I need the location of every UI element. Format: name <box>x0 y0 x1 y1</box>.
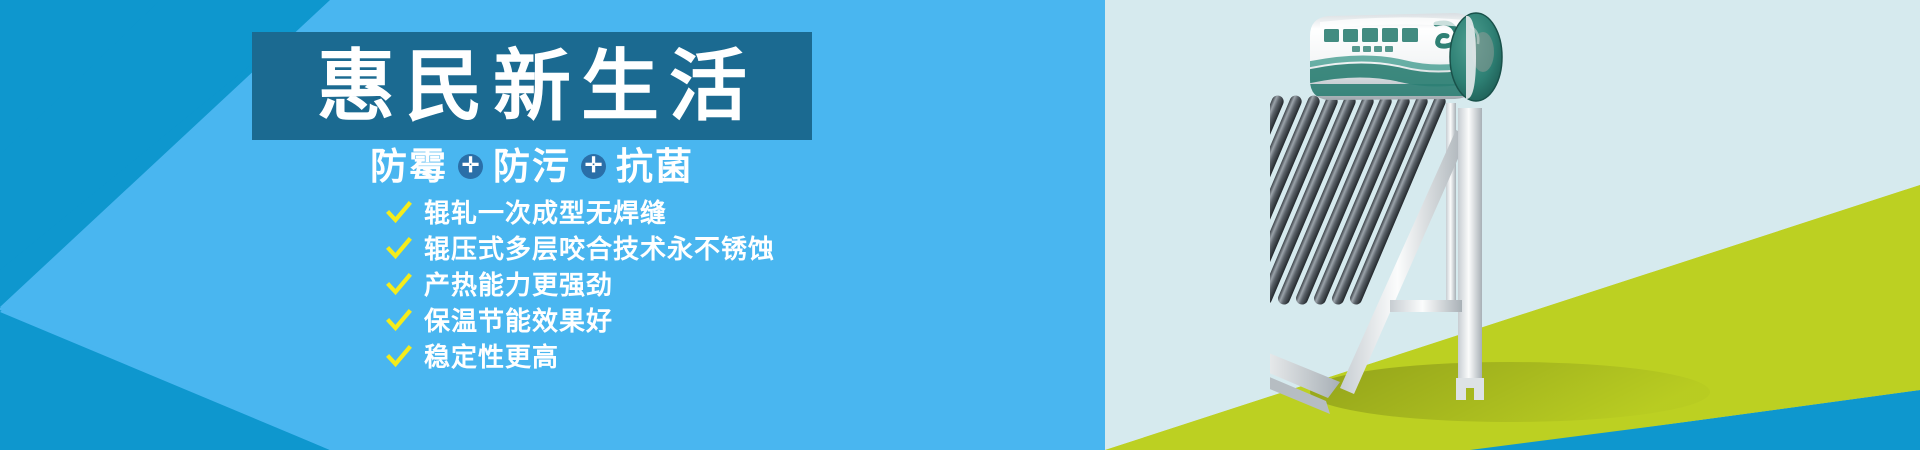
subtitle-part-1: 防霉 <box>370 148 448 185</box>
list-item: 辊轧一次成型无焊缝 <box>386 196 775 230</box>
subtitle-part-3: 抗菌 <box>616 148 694 185</box>
list-item: 产热能力更强劲 <box>386 268 775 302</box>
plus-icon-2: ✛ <box>581 154 606 179</box>
check-icon <box>386 308 412 334</box>
plus-icon-1: ✛ <box>458 154 483 179</box>
frame-rear <box>1446 103 1456 300</box>
page-title: 惠民新生活 <box>307 47 757 125</box>
feature-label: 产热能力更强劲 <box>424 272 613 298</box>
feature-label: 辊轧一次成型无焊缝 <box>424 200 667 226</box>
promo-banner: 惠民新生活 防霉 ✛ 防污 ✛ 抗菌 辊轧一次成型无焊缝 辊压式多层咬合技术永不… <box>0 0 1920 450</box>
check-icon <box>386 272 412 298</box>
subtitle-row: 防霉 ✛ 防污 ✛ 抗菌 <box>252 140 812 192</box>
check-icon <box>386 236 412 262</box>
product-shadow <box>1310 362 1710 422</box>
check-icon <box>386 344 412 370</box>
list-item: 保温节能效果好 <box>386 304 775 338</box>
frame-leg <box>1456 108 1484 400</box>
subtitle-part-2: 防污 <box>493 148 571 185</box>
frame-crossbar <box>1390 300 1462 312</box>
title-box: 惠民新生活 <box>252 32 812 140</box>
product-image-solar-water-heater <box>1270 0 1920 450</box>
evacuated-tube-array <box>1270 94 1448 307</box>
banner-content: 惠民新生活 防霉 ✛ 防污 ✛ 抗菌 辊轧一次成型无焊缝 辊压式多层咬合技术永不… <box>0 0 900 450</box>
list-item: 辊压式多层咬合技术永不锈蚀 <box>386 232 775 266</box>
feature-list: 辊轧一次成型无焊缝 辊压式多层咬合技术永不锈蚀 产热能力更强劲 保温节能效果好 <box>386 196 775 374</box>
check-icon <box>386 200 412 226</box>
feature-label: 稳定性更高 <box>424 344 559 370</box>
list-item: 稳定性更高 <box>386 340 775 374</box>
feature-label: 保温节能效果好 <box>424 308 613 334</box>
feature-label: 辊压式多层咬合技术永不锈蚀 <box>424 236 775 262</box>
